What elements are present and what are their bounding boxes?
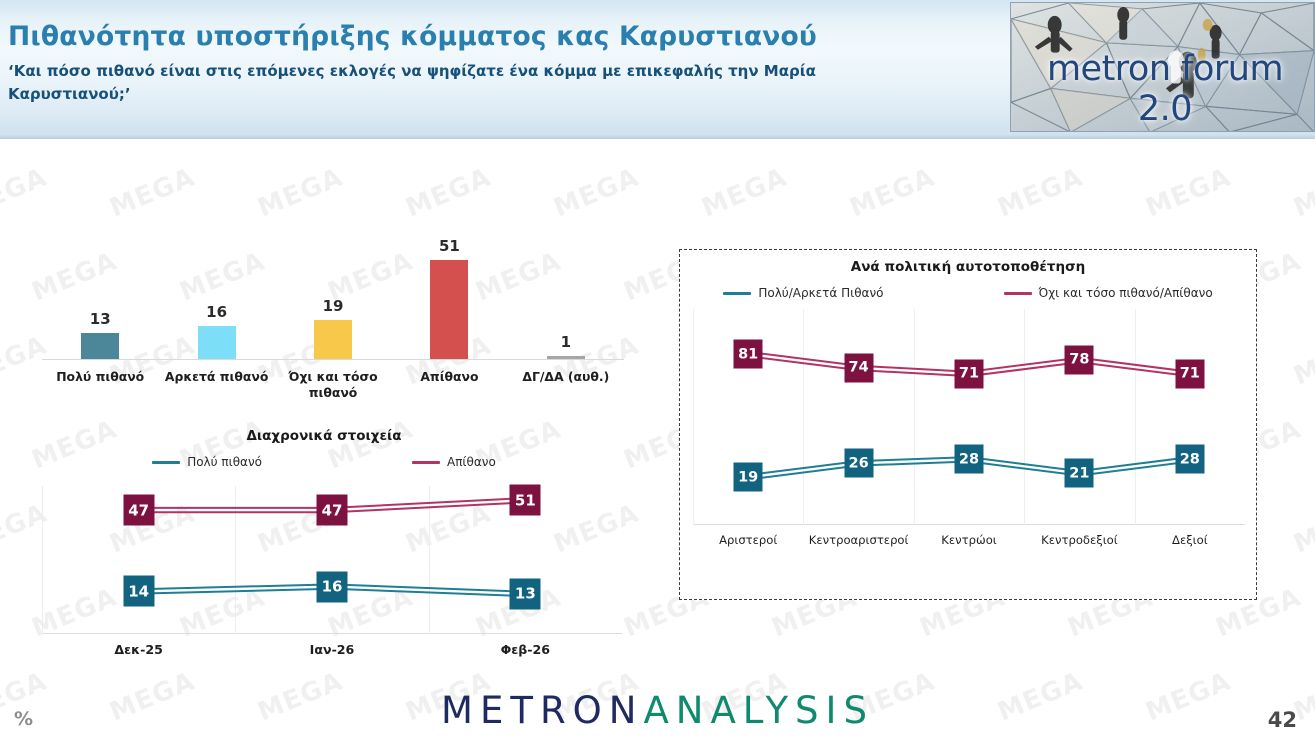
data-point-label[interactable]: 71 — [955, 359, 984, 388]
legend-label: Όχι και τόσο πιθανό/Απίθανο — [1039, 286, 1213, 300]
logo-metron-text: METRON — [441, 689, 643, 732]
bar-rectangle — [314, 320, 352, 359]
bar-value-label: 13 — [90, 310, 111, 328]
watermark-text: MEGA — [106, 162, 200, 223]
data-point-label[interactable]: 28 — [955, 445, 984, 474]
bar-category-label: Όχι και τόσο πιθανό — [275, 369, 391, 402]
data-point-label[interactable]: 47 — [123, 495, 154, 526]
timeseries-chart: Διαχρονικά στοιχεία Πολύ πιθανόΑπίθανο 1… — [24, 428, 624, 670]
metron-forum-logo: metron forum 2.0 — [1010, 2, 1315, 132]
percent-symbol: % — [14, 708, 33, 730]
data-point-label[interactable]: 71 — [1175, 359, 1204, 388]
bar-category-label: Απίθανο — [391, 369, 507, 402]
logo-analysis-text: ANALYSIS — [643, 689, 874, 732]
watermark-text: MEGA — [550, 162, 644, 223]
logo-wordmark: metron forum 2.0 — [1015, 49, 1315, 129]
category-label: Κεντρώοι — [914, 533, 1024, 547]
data-point-label[interactable]: 16 — [317, 571, 348, 602]
bar-chart-axis-line — [42, 359, 624, 360]
legend-label: Πολύ/Αρκετά Πιθανό — [758, 286, 883, 300]
watermark-text: MEGA — [846, 162, 940, 223]
timeseries-chart-title: Διαχρονικά στοιχεία — [24, 428, 624, 444]
data-point-label[interactable]: 78 — [1065, 345, 1094, 374]
page-number: 42 — [1268, 708, 1297, 732]
bar-item[interactable]: 13 — [42, 237, 158, 359]
data-point-label[interactable]: 26 — [844, 449, 873, 478]
data-point-label[interactable]: 81 — [734, 340, 763, 369]
bar-series-container: 131619511 — [42, 237, 624, 359]
data-point-label[interactable]: 14 — [123, 576, 154, 607]
bar-rectangle — [198, 326, 236, 359]
watermark-text: MEGA — [402, 162, 496, 223]
page-title: Πιθανότητα υποστήριξης κόμματος κας Καρυ… — [8, 22, 968, 52]
timeseries-legend: Πολύ πιθανόΑπίθανο — [24, 455, 624, 469]
category-label: Ιαν-26 — [235, 642, 428, 657]
bar-rectangle — [430, 260, 468, 359]
timeseries-category-labels: Δεκ-25Ιαν-26Φεβ-26 — [42, 642, 622, 657]
bar-rectangle — [81, 333, 119, 359]
bar-category-label: Πολύ πιθανό — [42, 369, 158, 402]
watermark-text: MEGA — [1290, 498, 1315, 559]
data-point-label[interactable]: 28 — [1175, 445, 1204, 474]
bar-category-label: Αρκετά πιθανό — [158, 369, 274, 402]
watermark-text: MEGA — [994, 162, 1088, 223]
bar-chart-category-labels: Πολύ πιθανόΑρκετά πιθανόΌχι και τόσο πιθ… — [42, 369, 624, 402]
line-series-svg — [693, 309, 1245, 525]
bar-item[interactable]: 16 — [158, 237, 274, 359]
bar-item[interactable]: 51 — [391, 237, 507, 359]
category-label: Δεκ-25 — [42, 642, 235, 657]
metron-analysis-logo: METRONANALYSIS — [441, 689, 874, 732]
category-label: Κεντροδεξιοί — [1024, 533, 1134, 547]
legend-color-swatch — [412, 461, 440, 464]
watermark-text: MEGA — [1290, 330, 1315, 391]
bar-value-label: 16 — [206, 303, 227, 321]
data-point-label[interactable]: 47 — [317, 495, 348, 526]
watermark-text: MEGA — [254, 162, 348, 223]
category-label: Φεβ-26 — [429, 642, 622, 657]
slide-footer: % METRONANALYSIS 42 — [0, 668, 1315, 738]
watermark-text: MEGA — [1142, 162, 1236, 223]
watermark-text: MEGA — [698, 162, 792, 223]
political-chart-title: Ανά πολιτική αυτοτοποθέτηση — [680, 259, 1256, 275]
legend-color-swatch — [1004, 292, 1032, 295]
legend-item[interactable]: Πολύ/Αρκετά Πιθανό — [723, 286, 883, 300]
slide-header: Πιθανότητα υποστήριξης κόμματος κας Καρυ… — [0, 0, 1315, 139]
political-self-placement-panel: Ανά πολιτική αυτοτοποθέτηση Πολύ/Αρκετά … — [679, 249, 1257, 600]
legend-item[interactable]: Όχι και τόσο πιθανό/Απίθανο — [1004, 286, 1213, 300]
bar-value-label: 1 — [561, 333, 571, 351]
bar-value-label: 51 — [439, 237, 460, 255]
watermark-text: MEGA — [1290, 162, 1315, 223]
watermark-text: MEGA — [0, 162, 51, 223]
bar-item[interactable]: 19 — [275, 237, 391, 359]
header-text-block: Πιθανότητα υποστήριξης κόμματος κας Καρυ… — [8, 22, 968, 105]
category-label: Αριστεροί — [693, 533, 803, 547]
political-plot-area: 19262821288174717871 — [693, 309, 1245, 525]
data-point-label[interactable]: 51 — [510, 485, 541, 516]
page-subtitle: ‘Και πόσο πιθανό είναι στις επόμενες εκλ… — [8, 60, 913, 105]
legend-color-swatch — [723, 292, 751, 295]
slide-root: MEGAMEGAMEGAMEGAMEGAMEGAMEGAMEGAMEGAMEGA… — [0, 0, 1315, 738]
timeseries-plot-area: 141613474751 — [42, 486, 622, 634]
main-bar-chart: 131619511 Πολύ πιθανόΑρκετά πιθανόΌχι κα… — [24, 228, 624, 408]
category-label: Κεντροαριστεροί — [803, 533, 913, 547]
category-label: Δεξιοί — [1135, 533, 1245, 547]
data-point-label[interactable]: 19 — [734, 463, 763, 492]
bar-item[interactable]: 1 — [508, 237, 624, 359]
data-point-label[interactable]: 13 — [510, 578, 541, 609]
political-chart-legend: Πολύ/Αρκετά ΠιθανόΌχι και τόσο πιθανό/Απ… — [680, 286, 1256, 300]
legend-item[interactable]: Πολύ πιθανό — [152, 455, 262, 469]
bar-value-label: 19 — [323, 297, 344, 315]
legend-label: Απίθανο — [447, 455, 496, 469]
political-category-labels: ΑριστεροίΚεντροαριστεροίΚεντρώοιΚεντροδε… — [693, 533, 1245, 547]
legend-item[interactable]: Απίθανο — [412, 455, 496, 469]
legend-color-swatch — [152, 461, 180, 464]
legend-label: Πολύ πιθανό — [187, 455, 262, 469]
data-point-label[interactable]: 74 — [844, 353, 873, 382]
data-point-label[interactable]: 21 — [1065, 459, 1094, 488]
bar-category-label: ΔΓ/ΔΑ (αυθ.) — [508, 369, 624, 402]
